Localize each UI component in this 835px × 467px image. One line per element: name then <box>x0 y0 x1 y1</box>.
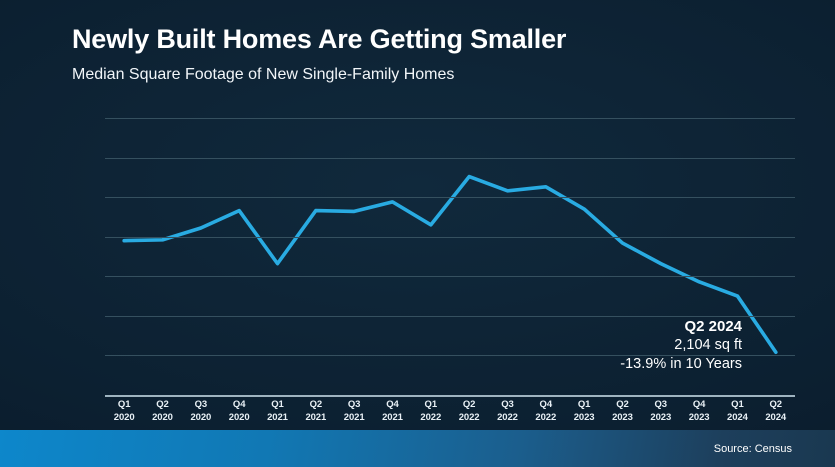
annotation-quarter: Q2 2024 <box>620 317 742 336</box>
x-tick-quarter: Q3 <box>335 399 373 412</box>
x-tick-quarter: Q1 <box>412 399 450 412</box>
x-tick-year: 2022 <box>488 412 526 425</box>
x-axis-labels: Q12020Q22020Q32020Q42020Q12021Q22021Q320… <box>105 399 795 429</box>
x-axis-tick-label: Q12021 <box>258 399 296 429</box>
x-axis-tick-label: Q42020 <box>220 399 258 429</box>
x-tick-quarter: Q2 <box>757 399 795 412</box>
gridline <box>105 118 795 119</box>
x-tick-quarter: Q1 <box>565 399 603 412</box>
x-axis-tick-label: Q12024 <box>718 399 756 429</box>
x-axis-tick-label: Q22024 <box>757 399 795 429</box>
x-tick-quarter: Q2 <box>450 399 488 412</box>
x-tick-year: 2020 <box>182 412 220 425</box>
page-title: Newly Built Homes Are Getting Smaller <box>72 24 566 55</box>
x-tick-quarter: Q2 <box>297 399 335 412</box>
chart-page: Newly Built Homes Are Getting Smaller Me… <box>0 0 835 467</box>
x-tick-quarter: Q2 <box>143 399 181 412</box>
gridline <box>105 197 795 198</box>
x-tick-quarter: Q3 <box>642 399 680 412</box>
x-tick-year: 2021 <box>373 412 411 425</box>
x-axis-tick-label: Q32021 <box>335 399 373 429</box>
x-tick-year: 2021 <box>335 412 373 425</box>
x-axis-tick-label: Q22020 <box>143 399 181 429</box>
gridline <box>105 276 795 277</box>
x-axis-tick-label: Q32020 <box>182 399 220 429</box>
gridline <box>105 237 795 238</box>
x-tick-year: 2022 <box>527 412 565 425</box>
x-tick-year: 2020 <box>143 412 181 425</box>
source-label: Source: Census <box>714 443 792 455</box>
x-axis-baseline <box>105 395 795 397</box>
x-tick-year: 2023 <box>603 412 641 425</box>
x-tick-year: 2022 <box>450 412 488 425</box>
gridline <box>105 158 795 159</box>
x-axis-tick-label: Q12022 <box>412 399 450 429</box>
annotation-value: 2,104 sq ft <box>620 336 742 355</box>
x-tick-year: 2024 <box>718 412 756 425</box>
page-subtitle: Median Square Footage of New Single-Fami… <box>72 66 454 84</box>
x-tick-quarter: Q4 <box>373 399 411 412</box>
x-tick-year: 2021 <box>297 412 335 425</box>
callout-annotation: Q2 2024 2,104 sq ft -13.9% in 10 Years <box>620 317 742 374</box>
x-axis-tick-label: Q22023 <box>603 399 641 429</box>
x-tick-quarter: Q4 <box>680 399 718 412</box>
x-axis-tick-label: Q22022 <box>450 399 488 429</box>
x-axis-tick-label: Q32023 <box>642 399 680 429</box>
x-tick-year: 2023 <box>642 412 680 425</box>
x-tick-year: 2023 <box>565 412 603 425</box>
x-tick-quarter: Q4 <box>220 399 258 412</box>
x-axis-tick-label: Q12023 <box>565 399 603 429</box>
x-axis-tick-label: Q42023 <box>680 399 718 429</box>
x-tick-quarter: Q1 <box>718 399 756 412</box>
x-axis-tick-label: Q42022 <box>527 399 565 429</box>
x-tick-year: 2023 <box>680 412 718 425</box>
x-axis-tick-label: Q42021 <box>373 399 411 429</box>
x-tick-quarter: Q3 <box>182 399 220 412</box>
annotation-change: -13.9% in 10 Years <box>620 355 742 374</box>
x-tick-year: 2024 <box>757 412 795 425</box>
x-tick-quarter: Q2 <box>603 399 641 412</box>
x-tick-quarter: Q1 <box>105 399 143 412</box>
footer-bar: Source: Census <box>0 430 835 467</box>
x-tick-year: 2021 <box>258 412 296 425</box>
x-axis-tick-label: Q32022 <box>488 399 526 429</box>
x-tick-quarter: Q3 <box>488 399 526 412</box>
x-axis-tick-label: Q12020 <box>105 399 143 429</box>
x-axis-tick-label: Q22021 <box>297 399 335 429</box>
x-tick-quarter: Q1 <box>258 399 296 412</box>
x-tick-year: 2022 <box>412 412 450 425</box>
x-tick-year: 2020 <box>105 412 143 425</box>
x-tick-quarter: Q4 <box>527 399 565 412</box>
x-tick-year: 2020 <box>220 412 258 425</box>
